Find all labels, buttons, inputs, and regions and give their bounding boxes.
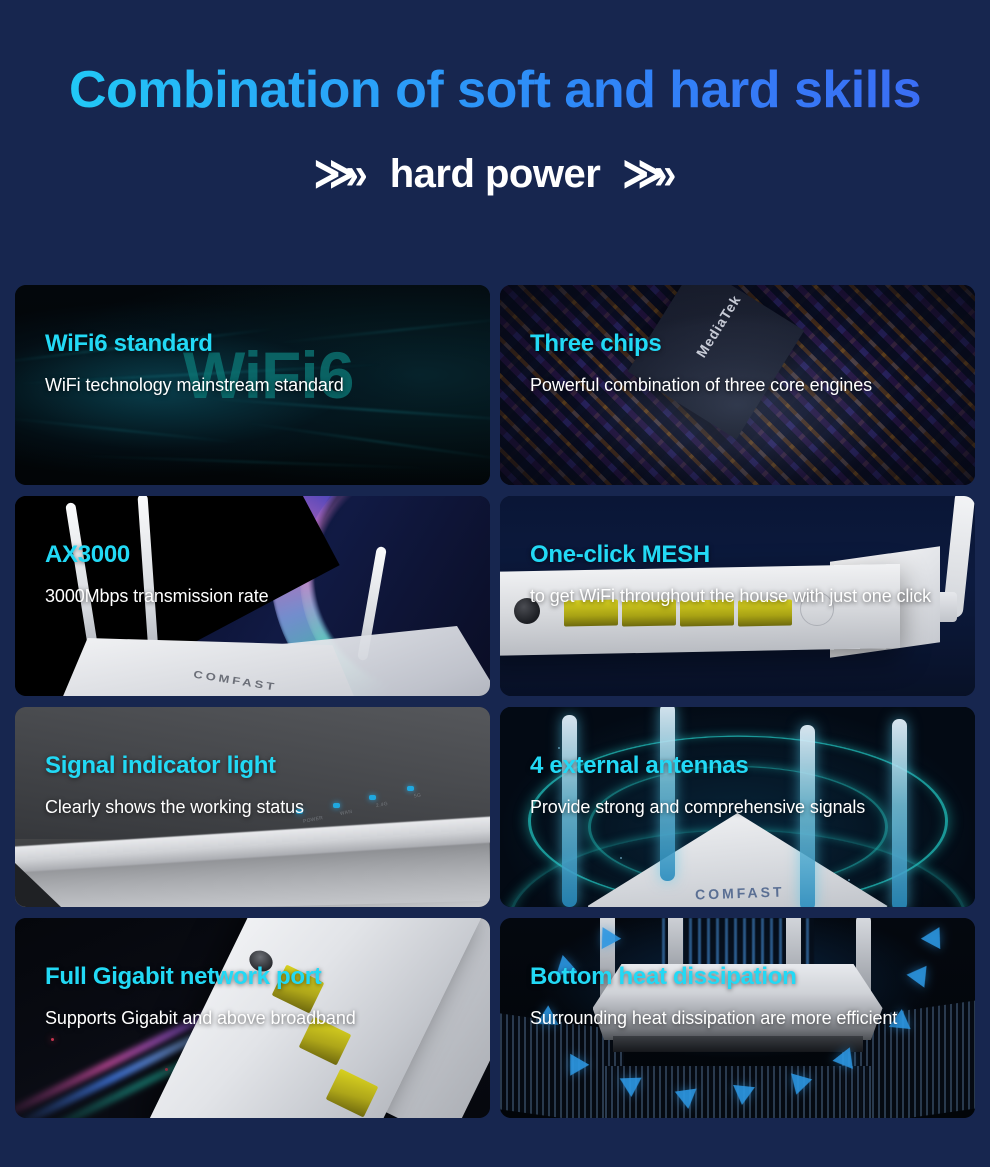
card-title: Full Gigabit network port <box>45 964 468 990</box>
card-text-block: Full Gigabit network port Supports Gigab… <box>45 964 468 1031</box>
card-title: Bottom heat dissipation <box>530 964 953 990</box>
card-text-block: One-click MESH to get WiFi throughout th… <box>530 542 953 609</box>
heat-arrow-icon <box>921 922 949 949</box>
card-description: Provide strong and comprehensive signals <box>530 795 953 820</box>
chevron-right-icon-right: ≫» <box>622 152 676 197</box>
card-description: WiFi technology mainstream standard <box>45 373 468 398</box>
page-title: Combination of soft and hard skills <box>69 62 921 118</box>
heat-arrow-icon <box>675 1089 699 1111</box>
card-text-block: Signal indicator light Clearly shows the… <box>45 753 468 820</box>
card-description: Powerful combination of three core engin… <box>530 373 953 398</box>
feature-card-three-chips[interactable]: MediaTek Three chips Powerful combinatio… <box>500 285 975 485</box>
feature-card-heat-dissipation[interactable]: Bottom heat dissipation Surrounding heat… <box>500 918 975 1118</box>
card-description: 3000Mbps transmission rate <box>45 584 468 609</box>
card-description: Supports Gigabit and above broadband <box>45 1006 468 1031</box>
card-description: Clearly shows the working status <box>45 795 468 820</box>
heat-arrow-icon <box>593 922 621 949</box>
card-title: AX3000 <box>45 542 468 568</box>
feature-card-four-antennas[interactable]: COMFAST 4 external antennas Provide stro… <box>500 707 975 907</box>
card-description: Surrounding heat dissipation are more ef… <box>530 1006 953 1031</box>
subtitle-row: ≫» hard power ≫» <box>0 154 990 194</box>
card-text-block: 4 external antennas Provide strong and c… <box>530 753 953 820</box>
heat-arrow-icon <box>731 1085 755 1106</box>
card-description: to get WiFi throughout the house with ju… <box>530 584 953 609</box>
card-title: One-click MESH <box>530 542 953 568</box>
feature-card-wifi6[interactable]: WiFi6 WiFi6 standard WiFi technology mai… <box>15 285 490 485</box>
card-text-block: Bottom heat dissipation Surrounding heat… <box>530 964 953 1031</box>
feature-card-signal-indicator[interactable]: POWER WAN 2.4G 5G Signal indicator light… <box>15 707 490 907</box>
card-title: 4 external antennas <box>530 753 953 779</box>
card-text-block: Three chips Powerful combination of thre… <box>530 331 953 398</box>
page-subtitle: hard power <box>390 154 601 194</box>
card-text-block: AX3000 3000Mbps transmission rate <box>45 542 468 609</box>
comfast-logo-text: COMFAST <box>694 883 784 902</box>
card-title: WiFi6 standard <box>45 331 468 357</box>
chevron-right-icon-left: ≫» <box>314 152 368 197</box>
feature-card-one-click-mesh[interactable]: One-click MESH to get WiFi throughout th… <box>500 496 975 696</box>
card-text-block: WiFi6 standard WiFi technology mainstrea… <box>45 331 468 398</box>
card-title: Three chips <box>530 331 953 357</box>
heat-arrow-icon <box>620 1078 643 1098</box>
feature-card-gigabit-port[interactable]: Full Gigabit network port Supports Gigab… <box>15 918 490 1118</box>
page-header: Combination of soft and hard skills ≫» h… <box>0 0 990 194</box>
feature-grid: WiFi6 WiFi6 standard WiFi technology mai… <box>15 285 975 1118</box>
feature-card-ax3000[interactable]: COMFAST AX3000 3000Mbps transmission rat… <box>15 496 490 696</box>
card-title: Signal indicator light <box>45 753 468 779</box>
